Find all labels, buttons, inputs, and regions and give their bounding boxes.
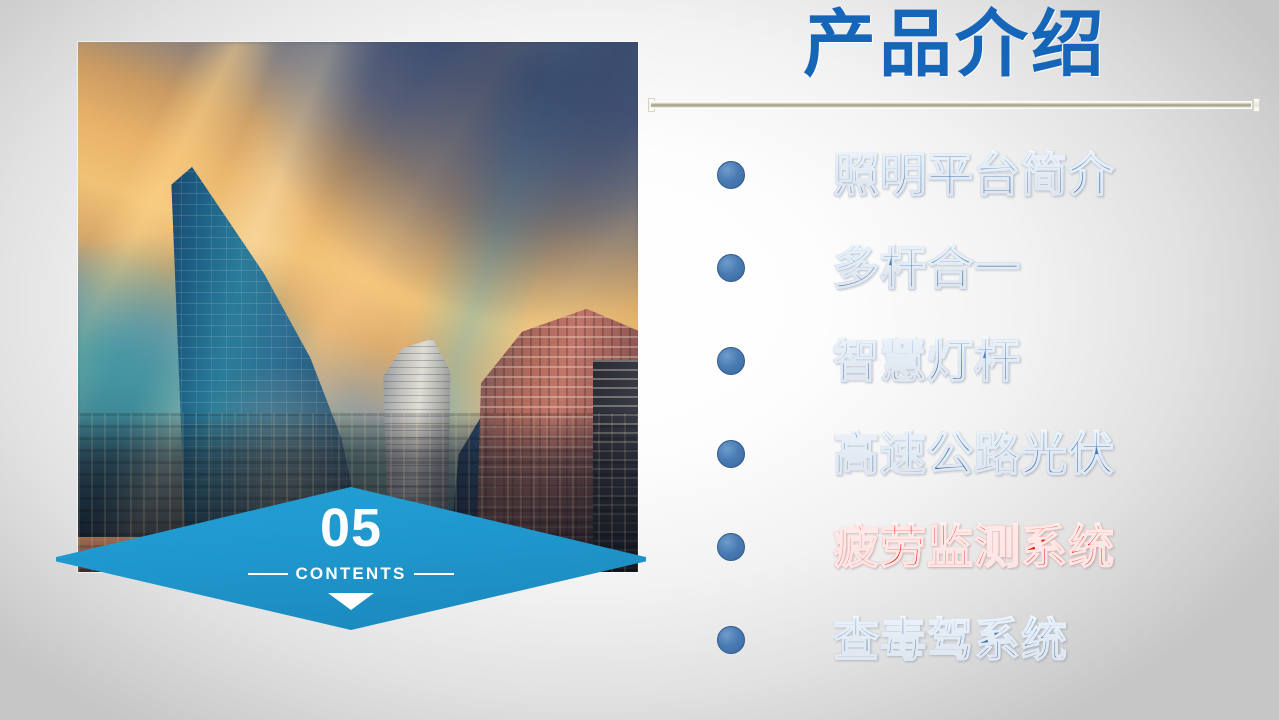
- bullet-label: 智慧灯杆: [833, 338, 1021, 384]
- caret-down-icon: [328, 593, 374, 610]
- agenda-bullet-list: 照明平台简介 多杆合一 智慧灯杆 高速公路光伏 疲劳监测系统 查毒驾系统: [648, 128, 1268, 686]
- bullet-label: 高速公路光伏: [833, 431, 1115, 477]
- list-item[interactable]: 智慧灯杆: [648, 314, 1268, 407]
- title-divider: [648, 98, 1260, 112]
- bullet-dot-icon: [717, 161, 745, 189]
- bullet-dot-icon: [717, 254, 745, 282]
- dash-right-icon: [414, 573, 454, 575]
- divider-bar: [650, 101, 1252, 109]
- list-item[interactable]: 高速公路光伏: [648, 407, 1268, 500]
- bullet-dot-icon: [717, 533, 745, 561]
- list-item[interactable]: 查毒驾系统: [648, 593, 1268, 686]
- bullet-dot-icon: [717, 626, 745, 654]
- list-item[interactable]: 照明平台简介: [648, 128, 1268, 221]
- bullet-label: 多杆合一: [833, 245, 1021, 291]
- bullet-label-highlighted: 疲劳监测系统: [833, 524, 1115, 570]
- page-title: 产品介绍: [648, 4, 1262, 86]
- contents-label-row: CONTENTS: [56, 564, 646, 584]
- bullet-dot-icon: [717, 347, 745, 375]
- contents-label: CONTENTS: [295, 564, 406, 584]
- bullet-label: 照明平台简介: [833, 152, 1115, 198]
- presentation-slide: 05 CONTENTS 产品介绍 照明平台简介 多杆合一 智慧灯杆 高速公: [0, 0, 1279, 720]
- bullet-label: 查毒驾系统: [833, 617, 1068, 663]
- divider-cap-right: [1253, 98, 1260, 112]
- list-item[interactable]: 多杆合一: [648, 221, 1268, 314]
- list-item[interactable]: 疲劳监测系统: [648, 500, 1268, 593]
- photo-sky-dark-area: [257, 42, 638, 318]
- bullet-dot-icon: [717, 440, 745, 468]
- dash-left-icon: [248, 573, 288, 575]
